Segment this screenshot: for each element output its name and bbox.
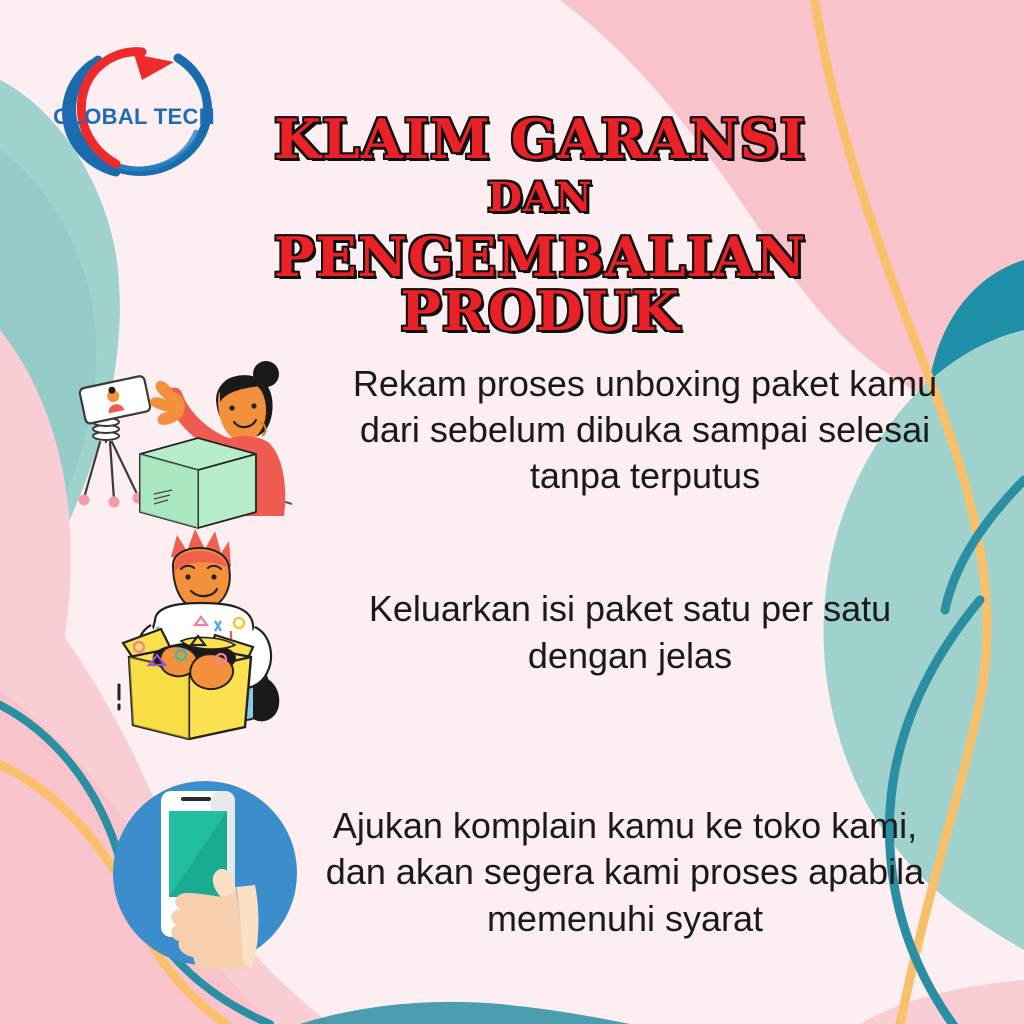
package-box xyxy=(140,438,256,528)
unboxing-recording-illustration xyxy=(70,330,320,530)
title-line-3: PENGEMBALIAN PRODUK xyxy=(160,230,920,338)
poster-canvas: GLOBAL TECH KLAIM GARANSI DAN PENGEMBALI… xyxy=(0,0,1024,1024)
tripod-foot xyxy=(79,495,90,506)
step-2-text: Keluarkan isi paket satu per satu dengan… xyxy=(310,586,950,678)
step-3-text: Ajukan komplain kamu ke toko kami, dan a… xyxy=(305,803,945,941)
page-title: KLAIM GARANSI DAN PENGEMBALIAN PRODUK xyxy=(160,112,920,338)
hand-holding-phone-icon xyxy=(105,773,305,973)
unpacking-box-illustration xyxy=(95,525,310,740)
step-row-1: Rekam proses unboxing paket kamu dari se… xyxy=(70,330,970,530)
head xyxy=(171,529,231,609)
step-1-text: Rekam proses unboxing paket kamu dari se… xyxy=(320,361,970,499)
step-row-2: Keluarkan isi paket satu per satu dengan… xyxy=(95,525,975,740)
title-line-2: DAN xyxy=(160,178,920,218)
title-line-1: KLAIM GARANSI xyxy=(160,112,920,166)
step-row-3: Ajukan komplain kamu ke toko kami, dan a… xyxy=(105,770,985,975)
